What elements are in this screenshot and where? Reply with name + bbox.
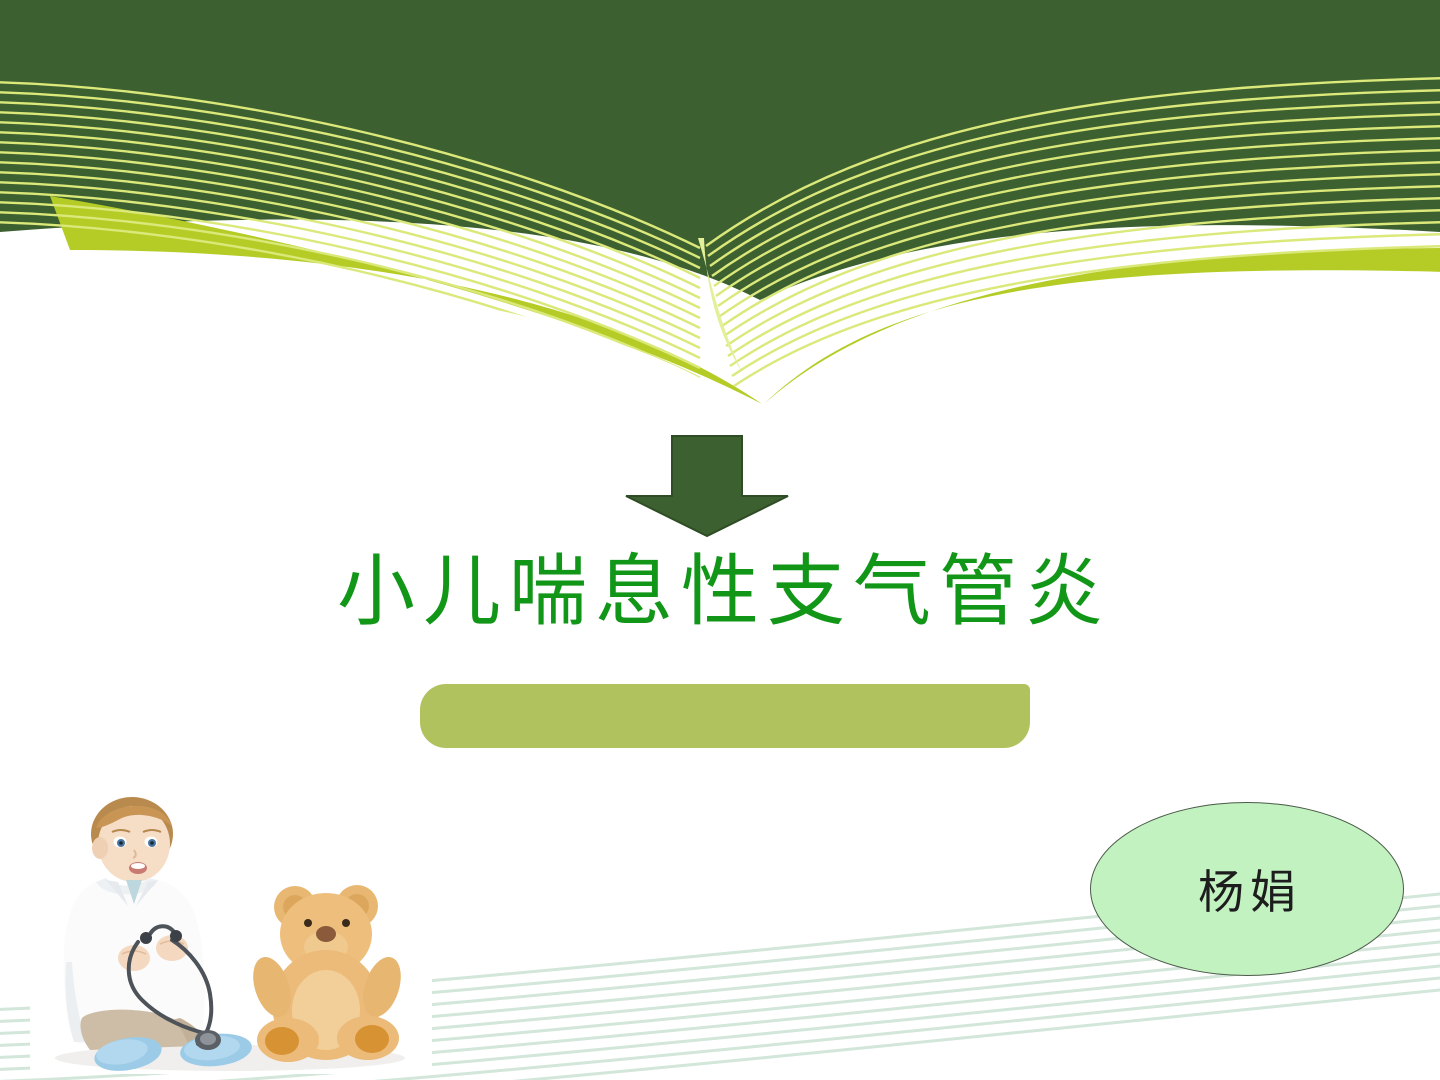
presentation-slide: 小儿喘息性支气管炎 杨娟 [0, 0, 1440, 1080]
photo-illustration [30, 782, 432, 1074]
down-arrow-icon [624, 434, 790, 538]
banner-white-gap-left [0, 225, 760, 316]
author-oval: 杨娟 [1090, 802, 1404, 976]
banner-leaf-right [764, 248, 1440, 404]
banner-bottom-mask [0, 268, 1440, 420]
stethoscope-earpiece-left [140, 932, 152, 944]
banner-leaf-left [50, 196, 762, 404]
green-rounded-bar [420, 684, 1030, 748]
author-name: 杨娟 [1192, 856, 1302, 922]
banner-dark-green-field [0, 0, 1440, 300]
stethoscope-earpiece-right [170, 930, 182, 942]
baby-doctor-with-teddy-bear-photo [30, 782, 432, 1074]
banner-stripes-right [706, 78, 1440, 386]
page-title: 小儿喘息性支气管炎 [0, 553, 1440, 631]
banner-spine-highlight [698, 238, 742, 372]
banner-stripes-left [0, 82, 700, 388]
